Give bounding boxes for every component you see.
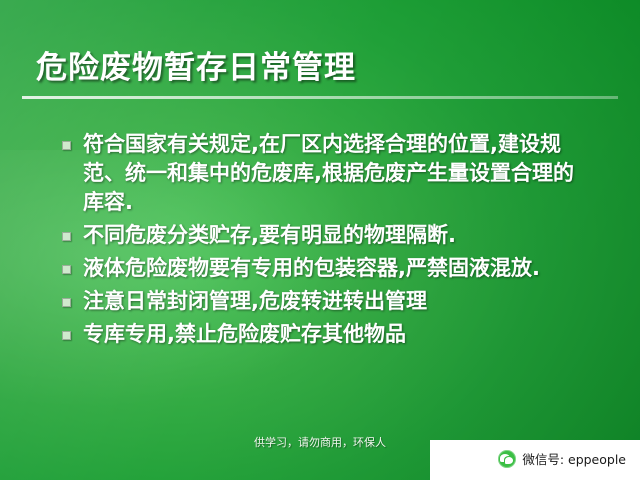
wechat-icon xyxy=(498,450,516,468)
list-item: 专库专用,禁止危险废贮存其他物品 xyxy=(62,320,592,349)
list-item: 注意日常封闭管理,危废转进转出管理 xyxy=(62,287,592,316)
bullet-list: 符合国家有关规定,在厂区内选择合理的位置,建设规范、统一和集中的危废库,根据危废… xyxy=(62,130,592,353)
bullet-marker-icon xyxy=(62,141,71,150)
list-item-text: 液体危险废物要有专用的包装容器,严禁固液混放. xyxy=(83,254,592,283)
list-item-text: 不同危废分类贮存,要有明显的物理隔断. xyxy=(83,221,592,250)
bullet-marker-icon xyxy=(62,298,71,307)
list-item-text: 符合国家有关规定,在厂区内选择合理的位置,建设规范、统一和集中的危废库,根据危废… xyxy=(83,130,592,217)
list-item-text: 注意日常封闭管理,危废转进转出管理 xyxy=(83,287,592,316)
watermark-text: 微信号: eppeople xyxy=(522,449,626,468)
list-item: 符合国家有关规定,在厂区内选择合理的位置,建设规范、统一和集中的危废库,根据危废… xyxy=(62,130,592,217)
list-item-text: 专库专用,禁止危险废贮存其他物品 xyxy=(83,320,592,349)
watermark: 微信号: eppeople xyxy=(498,449,626,468)
list-item: 液体危险废物要有专用的包装容器,严禁固液混放. xyxy=(62,254,592,283)
page-title: 危险废物暂存日常管理 xyxy=(36,42,356,87)
title-divider xyxy=(22,96,618,99)
bullet-marker-icon xyxy=(62,265,71,274)
bullet-marker-icon xyxy=(62,331,71,340)
list-item: 不同危废分类贮存,要有明显的物理隔断. xyxy=(62,221,592,250)
bullet-marker-icon xyxy=(62,232,71,241)
slide: 危险废物暂存日常管理 符合国家有关规定,在厂区内选择合理的位置,建设规范、统一和… xyxy=(0,0,640,480)
